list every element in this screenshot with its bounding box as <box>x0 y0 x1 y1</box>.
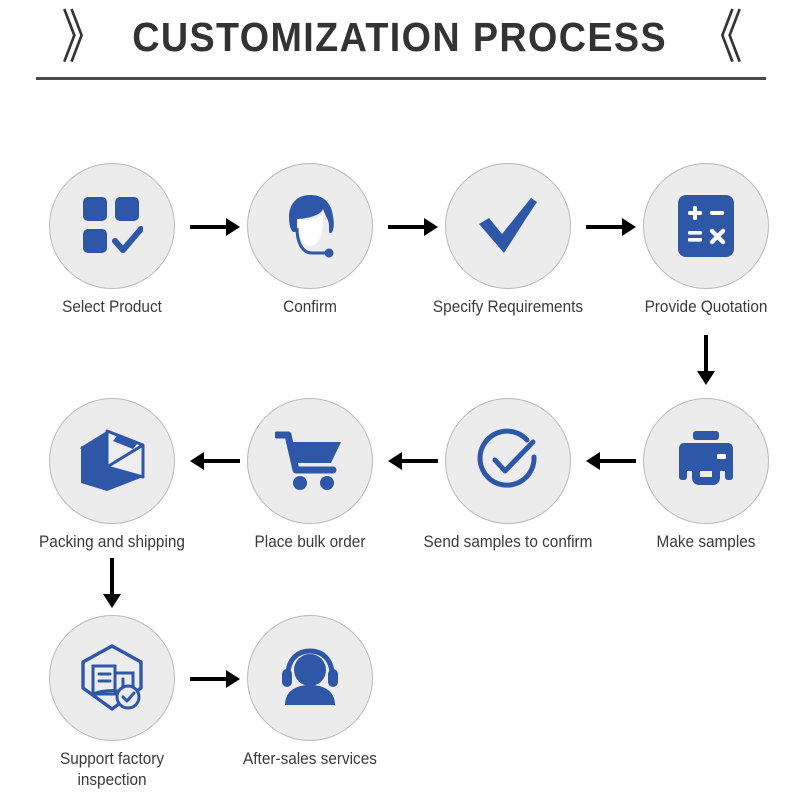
support-person-headset-icon <box>275 647 345 709</box>
step-make-samples[interactable]: Make samples <box>643 398 769 524</box>
step-label: Support factory inspection <box>12 749 213 791</box>
title-row: 》 CUSTOMIZATION PROCESS 《 <box>0 6 800 68</box>
step-icon-circle <box>445 163 571 289</box>
arrow-step7-step8 <box>190 452 240 470</box>
package-box-icon <box>77 427 147 495</box>
step-packing-and-shipping[interactable]: Packing and shipping <box>49 398 175 524</box>
step-icon-circle <box>49 163 175 289</box>
grid-check-icon <box>81 195 143 257</box>
step-icon-circle <box>643 398 769 524</box>
step-after-sales-services[interactable]: After-sales services <box>247 615 373 741</box>
title-divider <box>36 77 766 80</box>
arrow-step1-step2 <box>190 218 240 236</box>
printer-icon <box>673 430 739 492</box>
step-icon-circle <box>49 615 175 741</box>
arrow-step3-step4 <box>586 218 636 236</box>
step-label: Packing and shipping <box>12 532 213 553</box>
arrow-step2-step3 <box>388 218 438 236</box>
step-label: Select Product <box>12 297 213 318</box>
arrow-step4-step5 <box>697 335 715 385</box>
step-send-samples-to-confirm[interactable]: Send samples to confirm <box>445 398 571 524</box>
step-label: Make samples <box>606 532 800 553</box>
checkmark-icon <box>475 193 541 259</box>
step-icon-circle <box>445 398 571 524</box>
step-label: Confirm <box>210 297 411 318</box>
page-header: 》 CUSTOMIZATION PROCESS 《 <box>0 0 800 100</box>
calculator-icon <box>676 193 736 259</box>
step-label: Provide Quotation <box>606 297 800 318</box>
step-icon-circle <box>643 163 769 289</box>
arrow-step9-step10 <box>190 670 240 688</box>
circle-check-icon <box>475 428 541 494</box>
step-confirm[interactable]: Confirm <box>247 163 373 289</box>
chevron-right-decoration-icon: 》 <box>61 8 103 66</box>
arrow-step8-step9 <box>103 558 121 608</box>
step-support-factory-inspection[interactable]: Support factory inspection <box>49 615 175 741</box>
step-place-bulk-order[interactable]: Place bulk order <box>247 398 373 524</box>
step-provide-quotation[interactable]: Provide Quotation <box>643 163 769 289</box>
shopping-cart-icon <box>275 430 345 492</box>
arrow-step5-step6 <box>586 452 636 470</box>
page-title: CUSTOMIZATION PROCESS <box>133 17 668 58</box>
customization-process-infographic: 》 CUSTOMIZATION PROCESS 《 Select Product <box>0 0 800 800</box>
factory-inspection-shield-icon <box>77 643 147 713</box>
step-icon-circle <box>49 398 175 524</box>
chevron-left-decoration-icon: 《 <box>697 8 739 66</box>
arrow-step6-step7 <box>388 452 438 470</box>
step-icon-circle <box>247 163 373 289</box>
step-icon-circle <box>247 615 373 741</box>
step-specify-requirements[interactable]: Specify Requirements <box>445 163 571 289</box>
step-label: After-sales services <box>210 749 411 770</box>
step-icon-circle <box>247 398 373 524</box>
step-label: Place bulk order <box>210 532 411 553</box>
step-select-product[interactable]: Select Product <box>49 163 175 289</box>
headset-agent-icon <box>276 192 344 260</box>
step-label: Send samples to confirm <box>408 532 609 553</box>
step-label: Specify Requirements <box>408 297 609 318</box>
